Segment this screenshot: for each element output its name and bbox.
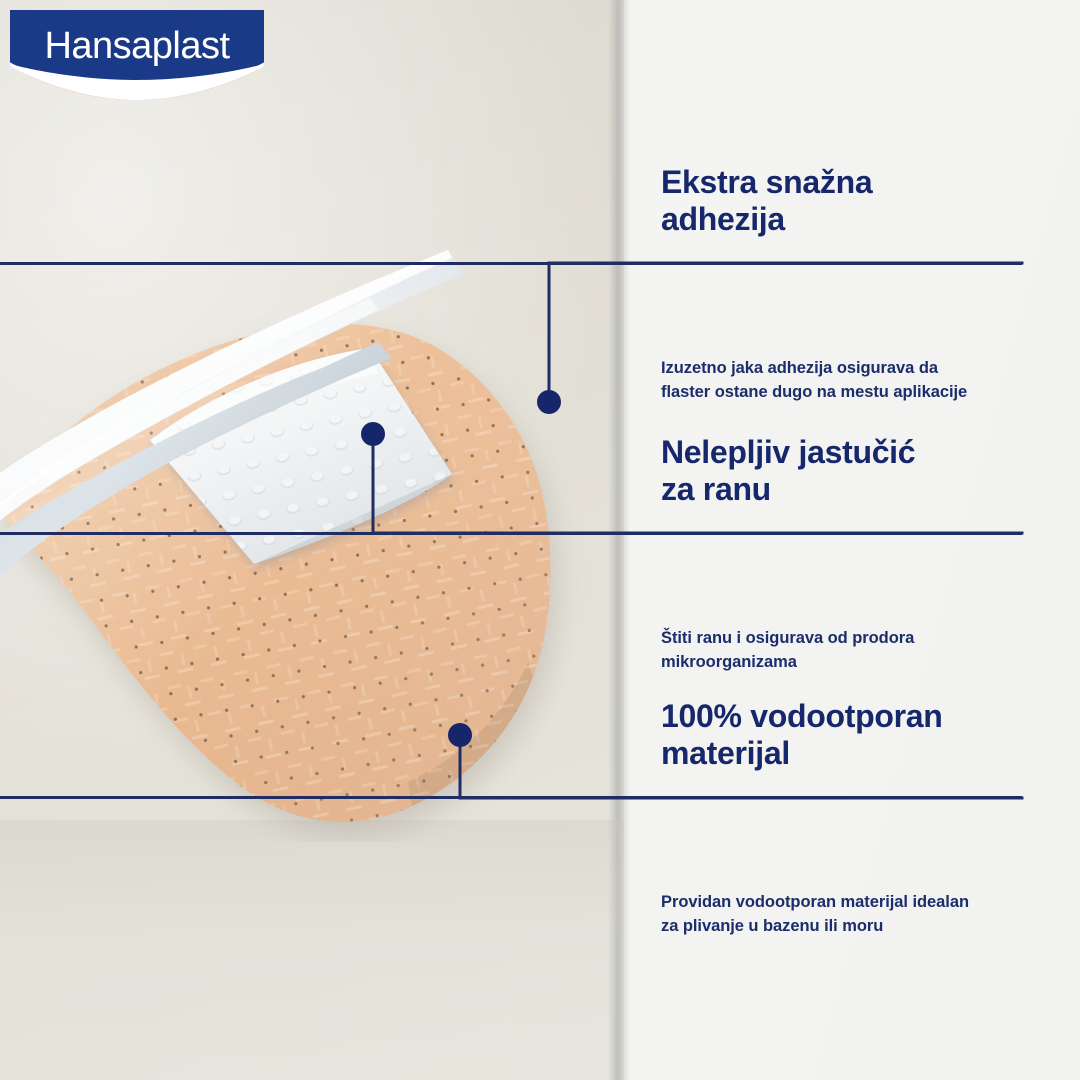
feature-heading-waterproof: 100% vodootporan materijal [661, 698, 1061, 773]
feature-block-wound-pad: Nelepljiv jastučić za ranu Štiti ranu i … [661, 434, 1061, 675]
feature-heading-adhesion: Ekstra snažna adhezija [661, 164, 1061, 239]
floor-shadow [0, 820, 624, 1080]
feature-heading-wound-pad: Nelepljiv jastučić za ranu [661, 434, 1061, 509]
feature-body-adhesion: Izuzetno jaka adhezija osigurava da flas… [661, 357, 1061, 405]
feature-body-wound-pad: Štiti ranu i osigurava od prodora mikroo… [661, 627, 1061, 675]
feature-divider-adhesion [0, 262, 1022, 265]
poster-canvas: Hansaplast [0, 0, 1080, 1080]
feature-block-adhesion: Ekstra snažna adhezija Izuzetno jaka adh… [661, 164, 1061, 405]
logo-wordmark: Hansaplast [44, 25, 230, 67]
hansaplast-logo: Hansaplast [8, 8, 266, 102]
feature-divider-waterproof [0, 796, 1022, 799]
feature-body-waterproof: Providan vodootporan materijal idealan z… [661, 891, 1061, 939]
feature-divider-wound-pad [0, 532, 1022, 535]
feature-block-waterproof: 100% vodootporan materijal Providan vodo… [661, 698, 1061, 939]
